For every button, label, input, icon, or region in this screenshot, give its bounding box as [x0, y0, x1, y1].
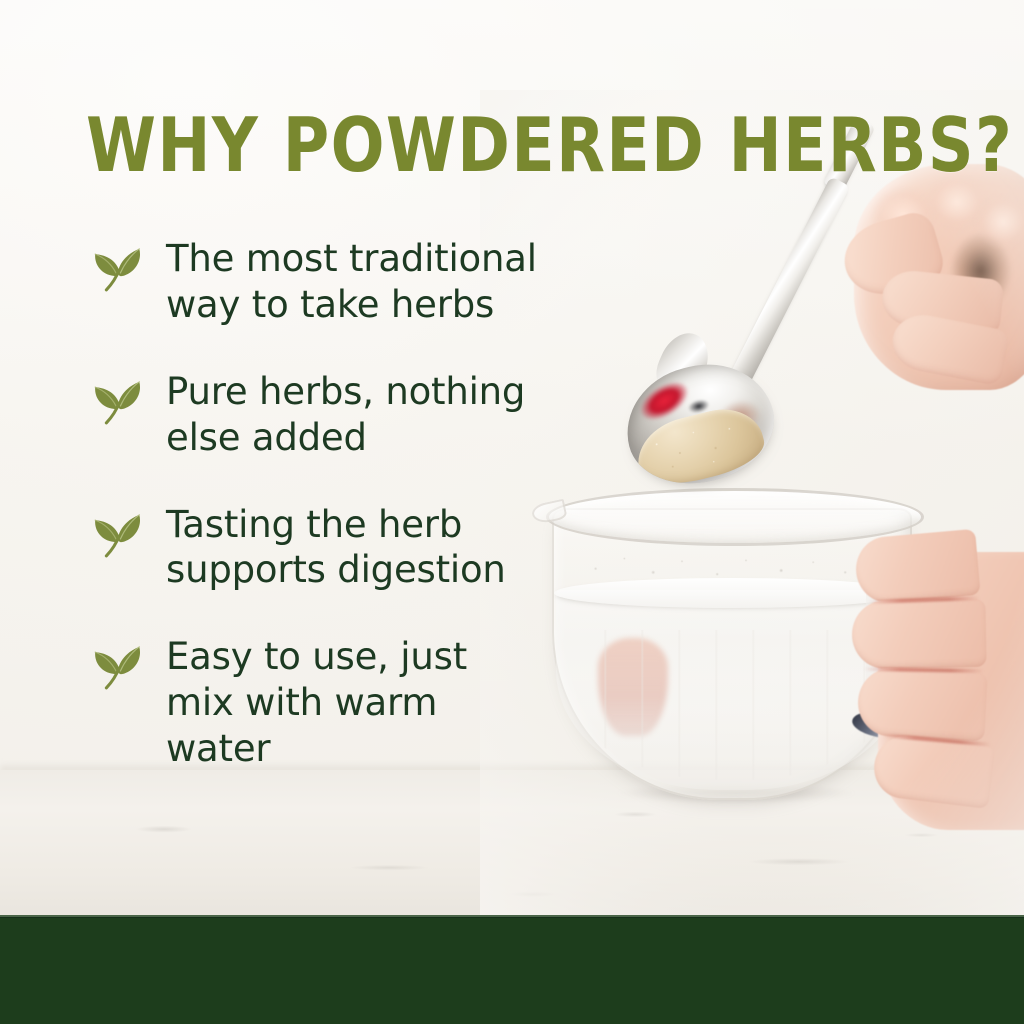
page-title: WHY POWDERED HERBS?: [86, 108, 1013, 183]
product-photo: [500, 110, 1024, 920]
list-item-line: mix with warm: [166, 681, 437, 724]
list-item-line: The most traditional: [166, 237, 537, 280]
sprout-leaf-icon: [86, 242, 148, 304]
list-item-line: Pure herbs, nothing: [166, 370, 525, 413]
list-item-line: else added: [166, 416, 367, 459]
mug-hand-finger-2: [851, 599, 986, 669]
bottom-brand-bar: [0, 915, 1024, 1024]
list-item: Easy to use, just mix with warm water: [86, 634, 556, 772]
hand-holding-mug: [852, 528, 1024, 858]
list-item-line: Easy to use, just: [166, 635, 467, 678]
list-item-label: Pure herbs, nothing else added: [166, 369, 525, 461]
list-item: Pure herbs, nothing else added: [86, 369, 556, 461]
list-item-line: supports digestion: [166, 548, 506, 591]
list-item: The most traditional way to take herbs: [86, 236, 556, 328]
mug-hand-finger-3: [856, 667, 987, 742]
list-item-label: Tasting the herb supports digestion: [166, 502, 506, 594]
poster-canvas: WHY POWDERED HERBS? The most traditional…: [0, 0, 1024, 1024]
spoon-bowl: [614, 350, 786, 498]
mug-hand-finger-1: [853, 529, 980, 605]
list-item: Tasting the herb supports digestion: [86, 502, 556, 594]
list-item-line: way to take herbs: [166, 283, 494, 326]
list-item-line: water: [166, 727, 270, 770]
bar-hairline: [0, 915, 1024, 917]
sprout-leaf-icon: [86, 375, 148, 437]
sprout-leaf-icon: [86, 640, 148, 702]
benefits-list: The most traditional way to take herbs P…: [86, 236, 556, 772]
mug-condensation-bubbles: [570, 542, 890, 588]
list-item-label: The most traditional way to take herbs: [166, 236, 537, 328]
list-item-line: Tasting the herb: [166, 503, 462, 546]
spoon-hand-knuckle-3: [974, 194, 1024, 250]
sprout-leaf-icon: [86, 508, 148, 570]
list-item-label: Easy to use, just mix with warm water: [166, 634, 467, 772]
